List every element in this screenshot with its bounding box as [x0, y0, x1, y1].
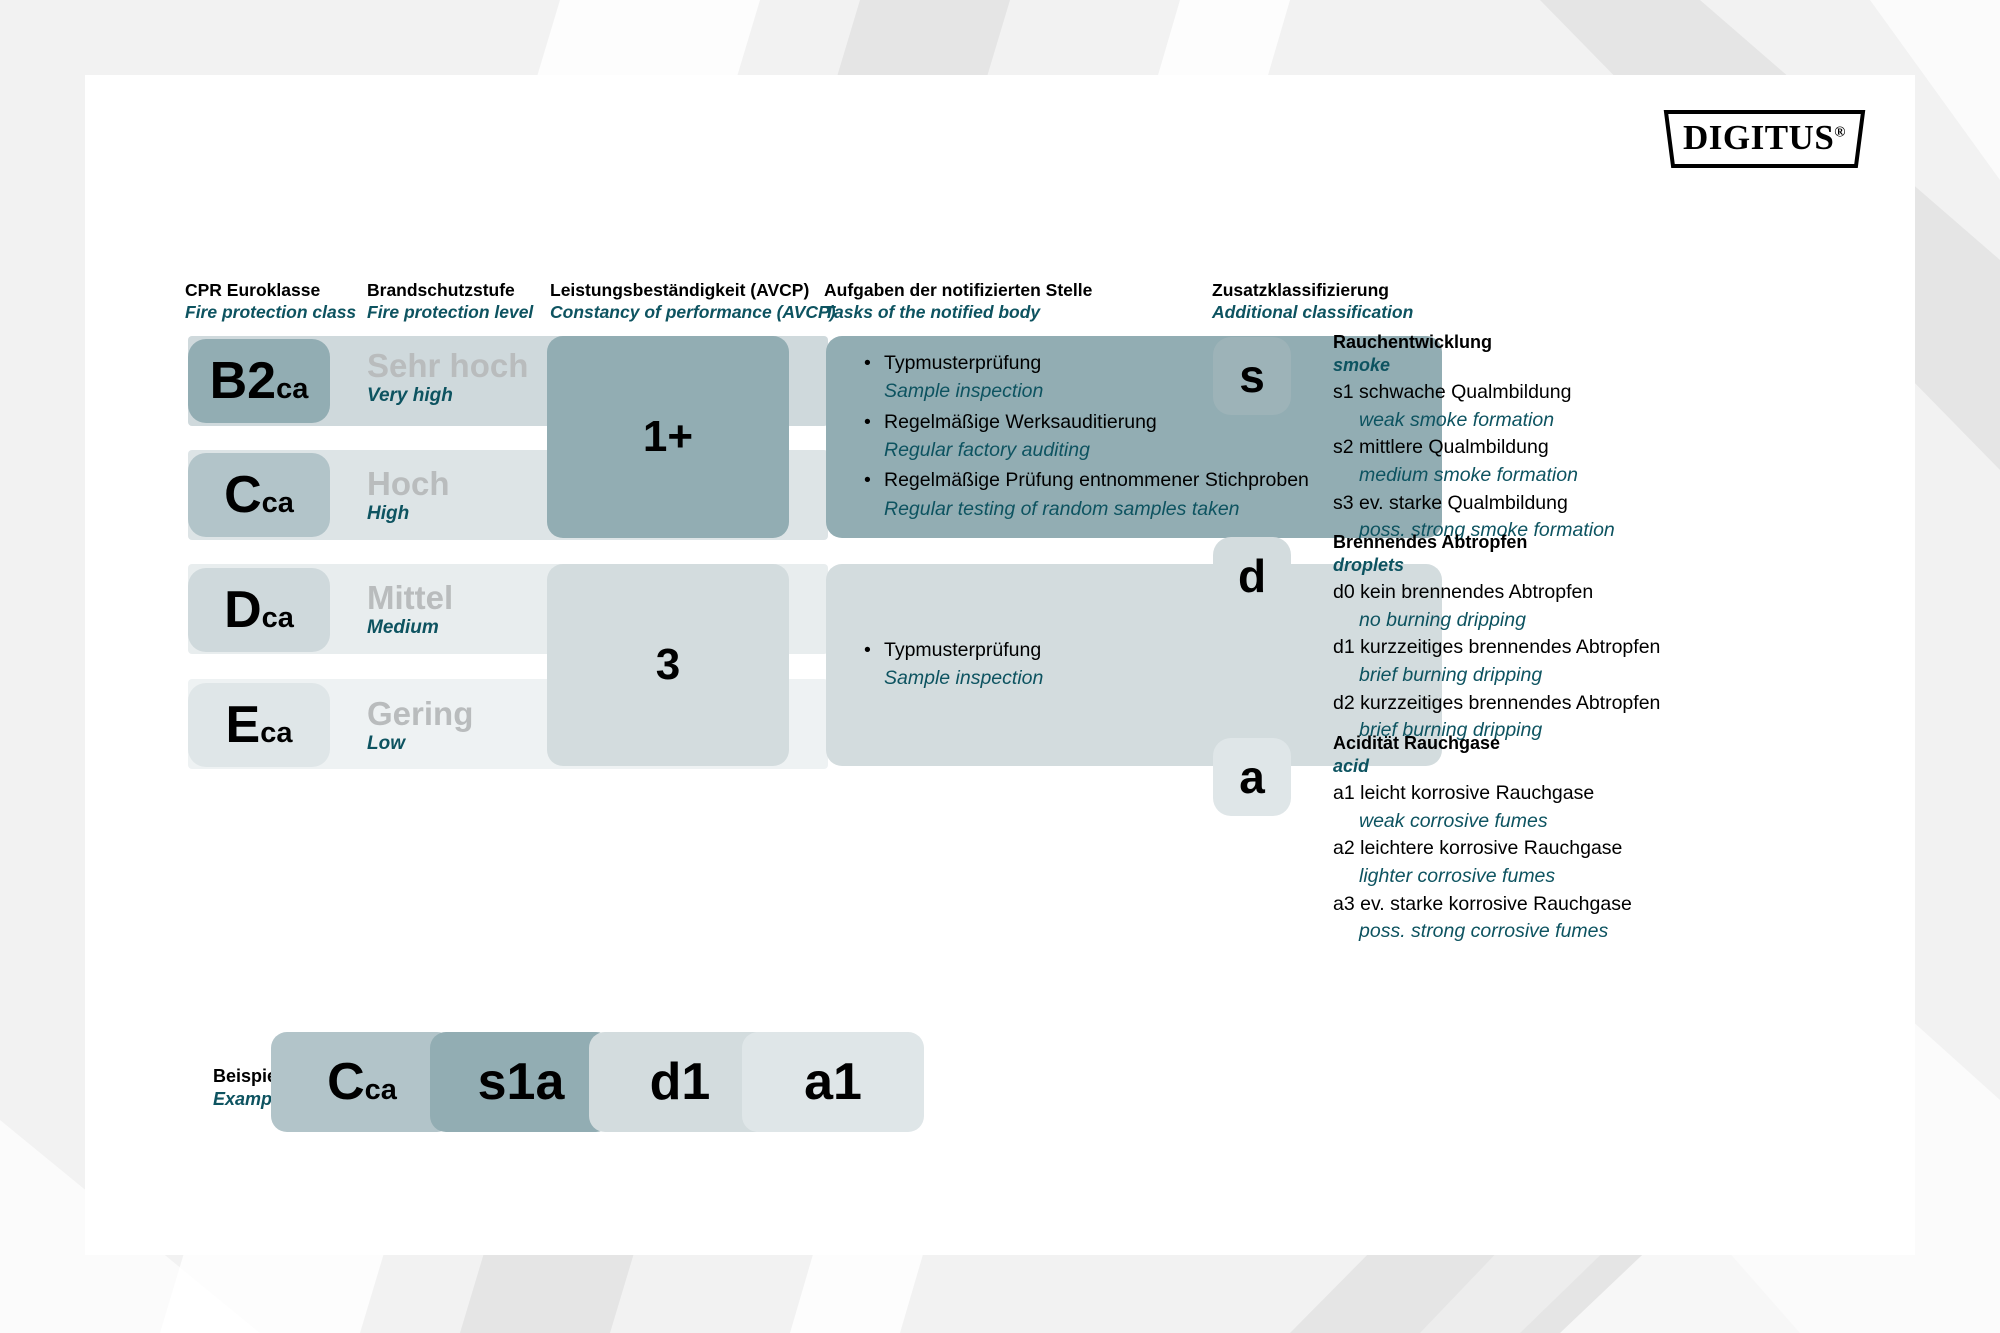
level-cell-medium: Mittel Medium	[367, 581, 453, 640]
additional-text-smoke: Rauchentwicklung smoke s1 schwache Qualm…	[1333, 331, 1615, 545]
task-en: Regular testing of random samples taken	[864, 495, 1404, 523]
additional-row-de: s1 schwache Qualmbildung	[1333, 379, 1615, 407]
example-box-smoke: s1a	[430, 1032, 612, 1132]
column-header-notified-body: Aufgaben der notifizierten Stelle Tasks …	[824, 280, 1092, 324]
class-box-label: Dca	[224, 584, 294, 636]
class-box-label: Eca	[226, 699, 293, 751]
column-header-protection-level: Brandschutzstufe Fire protection level	[367, 280, 533, 324]
additional-badge-s: s	[1213, 337, 1291, 415]
level-en: Low	[367, 732, 473, 757]
additional-title-en: acid	[1333, 755, 1632, 778]
additional-row-de: d1 kurzzeitiges brennendes Abtropfen	[1333, 634, 1660, 662]
task-item: Typmusterprüfung Sample inspection	[864, 349, 1404, 406]
task-de: Typmusterprüfung	[864, 349, 1404, 377]
column-header-additional-classification: Zusatzklassifizierung Additional classif…	[1212, 280, 1413, 324]
additional-row-en: weak corrosive fumes	[1333, 808, 1632, 836]
additional-title-de: Acidität Rauchgase	[1333, 732, 1632, 755]
avcp-box-3: 3	[547, 564, 789, 766]
col-head-en: Tasks of the notified body	[824, 302, 1092, 324]
additional-row-en: no burning dripping	[1333, 607, 1660, 635]
class-box-c: Cca	[188, 453, 330, 537]
additional-row-en: poss. strong corrosive fumes	[1333, 918, 1632, 946]
additional-badge-letter: s	[1239, 353, 1265, 399]
avcp-value: 1+	[643, 412, 693, 462]
additional-title-de: Brennendes Abtropfen	[1333, 531, 1660, 554]
example-box-acid: a1	[742, 1032, 924, 1132]
column-header-avcp: Leistungsbeständigkeit (AVCP) Constancy …	[550, 280, 836, 324]
task-item: Regelmäßige Werksauditierung Regular fac…	[864, 408, 1404, 465]
class-box-label: Cca	[224, 469, 294, 521]
task-en: Sample inspection	[864, 664, 1404, 692]
additional-row-de: s3 ev. starke Qualmbildung	[1333, 490, 1615, 518]
class-box-d: Dca	[188, 568, 330, 652]
level-en: Medium	[367, 616, 453, 641]
level-de: Gering	[367, 697, 473, 732]
additional-text-droplets: Brennendes Abtropfen droplets d0 kein br…	[1333, 531, 1660, 745]
class-box-label: B2ca	[210, 355, 309, 407]
level-de: Hoch	[367, 467, 450, 502]
additional-badge-letter: d	[1238, 553, 1266, 599]
col-head-en: Fire protection class	[185, 302, 356, 324]
task-en: Regular factory auditing	[864, 436, 1404, 464]
additional-badge-d: d	[1213, 537, 1291, 615]
level-en: High	[367, 502, 450, 527]
additional-row-de: a3 ev. starke korrosive Rauchgase	[1333, 891, 1632, 919]
example-box-label: Cca	[327, 1056, 397, 1108]
additional-row-de: d0 kein brennendes Abtropfen	[1333, 579, 1660, 607]
task-item: Typmusterprüfung Sample inspection	[864, 636, 1404, 693]
task-en: Sample inspection	[864, 377, 1404, 405]
task-item: Regelmäßige Prüfung entnommener Stichpro…	[864, 466, 1404, 523]
level-cell-low: Gering Low	[367, 697, 473, 756]
col-head-de: Aufgaben der notifizierten Stelle	[824, 280, 1092, 302]
task-de: Regelmäßige Werksauditierung	[864, 408, 1404, 436]
additional-badge-letter: a	[1239, 754, 1265, 800]
infographic-card: DIGITUS® CPR Euroklasse Fire protection …	[85, 75, 1915, 1255]
level-de: Sehr hoch	[367, 349, 528, 384]
additional-row-de: d2 kurzzeitiges brennendes Abtropfen	[1333, 690, 1660, 718]
example-box-label: d1	[650, 1056, 711, 1108]
additional-title-de: Rauchentwicklung	[1333, 331, 1615, 354]
col-head-de: Zusatzklassifizierung	[1212, 280, 1413, 302]
additional-text-acid: Acidität Rauchgase acid a1 leicht korros…	[1333, 732, 1632, 946]
example-box-label: s1a	[478, 1056, 565, 1108]
level-en: Very high	[367, 384, 528, 409]
task-de: Typmusterprüfung	[864, 636, 1404, 664]
column-header-cpr-class: CPR Euroklasse Fire protection class	[185, 280, 356, 324]
col-head-en: Fire protection level	[367, 302, 533, 324]
additional-row-en: medium smoke formation	[1333, 462, 1615, 490]
col-head-en: Constancy of performance (AVCP)	[550, 302, 836, 324]
additional-row-en: lighter corrosive fumes	[1333, 863, 1632, 891]
class-box-e: Eca	[188, 683, 330, 767]
additional-row-de: a2 leichtere korrosive Rauchgase	[1333, 835, 1632, 863]
level-cell-high: Hoch High	[367, 467, 450, 526]
col-head-de: CPR Euroklasse	[185, 280, 356, 302]
example-box-class: Cca	[271, 1032, 453, 1132]
additional-title-en: smoke	[1333, 354, 1615, 377]
level-de: Mittel	[367, 581, 453, 616]
task-de: Regelmäßige Prüfung entnommener Stichpro…	[864, 466, 1404, 494]
additional-row-en: weak smoke formation	[1333, 407, 1615, 435]
additional-badge-a: a	[1213, 738, 1291, 816]
example-box-label: a1	[804, 1056, 862, 1108]
additional-title-en: droplets	[1333, 554, 1660, 577]
col-head-de: Leistungsbeständigkeit (AVCP)	[550, 280, 836, 302]
col-head-de: Brandschutzstufe	[367, 280, 533, 302]
col-head-en: Additional classification	[1212, 302, 1413, 324]
class-box-b2: B2ca	[188, 339, 330, 423]
additional-row-de: s2 mittlere Qualmbildung	[1333, 434, 1615, 462]
additional-row-en: brief burning dripping	[1333, 662, 1660, 690]
avcp-value: 3	[656, 640, 680, 690]
level-cell-very-high: Sehr hoch Very high	[367, 349, 528, 408]
additional-row-de: a1 leicht korrosive Rauchgase	[1333, 780, 1632, 808]
avcp-box-1plus: 1+	[547, 336, 789, 538]
